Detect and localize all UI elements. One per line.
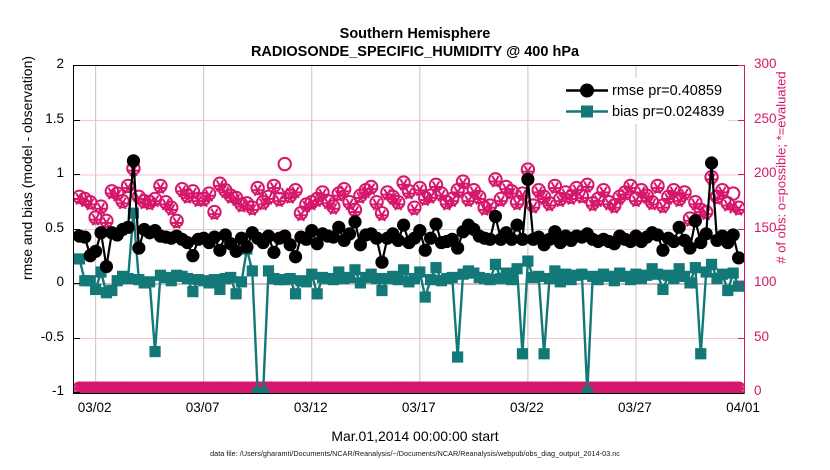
y-axis-left-tickmark (73, 229, 80, 230)
rmse-marker (451, 241, 464, 254)
obs-possible-marker (376, 207, 388, 219)
bias-marker (511, 263, 522, 274)
y-axis-left-tick: 2 (18, 56, 64, 71)
x-axis-tick: 03/02 (55, 400, 135, 415)
legend-item-rmse[interactable]: rmse pr=0.40859 (564, 80, 724, 101)
y-axis-left-tickmark (73, 120, 80, 121)
bias-marker (506, 274, 517, 285)
bias-marker (522, 256, 533, 267)
legend-marker-square-icon (564, 101, 610, 122)
bias-marker (106, 285, 117, 296)
bias-marker (517, 348, 528, 359)
y-axis-left-tickmark (73, 392, 80, 393)
bias-marker (306, 269, 317, 280)
rmse-marker (521, 173, 534, 186)
obs-possible-marker (408, 202, 420, 214)
rmse-marker (429, 217, 442, 230)
bias-marker (225, 272, 236, 283)
obs-possible-marker (727, 187, 739, 199)
bias-marker (90, 284, 101, 295)
bias-marker (668, 273, 679, 284)
bias-marker (144, 276, 155, 287)
bias-marker (182, 273, 193, 284)
legend-item-bias[interactable]: bias pr=0.024839 (564, 101, 724, 122)
rmse-marker (240, 240, 253, 253)
rmse-marker (343, 227, 356, 240)
page-title: Southern Hemisphere (0, 26, 830, 42)
rmse-marker (121, 221, 134, 234)
bias-marker (247, 265, 258, 276)
bias-marker (538, 348, 549, 359)
bias-marker (393, 274, 404, 285)
rmse-marker (78, 231, 91, 244)
rmse-marker (413, 224, 426, 237)
x-axis-tick: 03/27 (595, 400, 675, 415)
rmse-marker (127, 154, 140, 167)
rmse-marker (132, 241, 145, 254)
bias-marker (425, 274, 436, 285)
bias-marker (398, 264, 409, 275)
rmse-marker (284, 238, 297, 251)
bias-marker (452, 351, 463, 362)
bias-marker (214, 284, 225, 295)
bias-marker (576, 269, 587, 280)
rmse-marker (89, 245, 102, 258)
bias-marker (484, 274, 495, 285)
y-axis-right-tick: 50 (754, 329, 810, 344)
y-axis-left-tick: -0.5 (18, 329, 64, 344)
right-axis-spine (744, 65, 745, 394)
x-axis-label: Mar.01,2014 00:00:00 start (0, 428, 830, 444)
y-axis-left-tick: 1.5 (18, 111, 64, 126)
bias-marker (684, 277, 695, 288)
rmse-line (79, 161, 738, 267)
bias-marker (695, 348, 706, 359)
bias-marker (549, 265, 560, 276)
bias-marker (236, 276, 247, 287)
bias-marker (74, 253, 85, 264)
rmse-marker (289, 250, 302, 263)
data-file-path: data file: /Users/gharamti/Documents/NCA… (0, 449, 830, 458)
rmse-marker (673, 221, 686, 234)
obs-possible-marker (95, 200, 107, 212)
bias-marker (490, 259, 501, 270)
y-axis-left-tick: -1 (18, 383, 64, 398)
y-axis-left-tickmark (73, 174, 80, 175)
rmse-marker (656, 244, 669, 257)
bias-marker (376, 285, 387, 296)
legend: rmse pr=0.40859 bias pr=0.024839 (560, 78, 728, 124)
y-axis-right-tick: 200 (754, 165, 810, 180)
bias-marker (722, 285, 733, 296)
y-axis-left-tick: 0 (18, 274, 64, 289)
bias-marker (420, 291, 431, 302)
x-axis-tick: 03/22 (487, 400, 567, 415)
y-axis-left-tick: 0.5 (18, 220, 64, 235)
legend-label-rmse: rmse pr=0.40859 (610, 83, 722, 99)
bias-marker (414, 266, 425, 277)
rmse-marker (267, 246, 280, 259)
bias-marker (258, 387, 269, 393)
y-axis-right-tick: 150 (754, 220, 810, 235)
page-subtitle: RADIOSONDE_SPECIFIC_HUMIDITY @ 400 hPa (0, 44, 830, 60)
rmse-marker (186, 249, 199, 262)
bias-marker (717, 269, 728, 280)
obs-possible-marker (208, 206, 220, 218)
y-axis-right-tick: 0 (754, 383, 810, 398)
bias-marker (728, 268, 739, 279)
bias-marker (447, 272, 458, 283)
obs-possible-marker (279, 158, 291, 170)
bias-marker (706, 259, 717, 270)
x-axis-tick: 03/07 (163, 400, 243, 415)
rmse-marker (100, 260, 113, 273)
bias-marker (582, 387, 593, 393)
bias-marker (312, 288, 323, 299)
bias-marker (122, 273, 133, 284)
bias-marker (652, 269, 663, 280)
bias-marker (371, 273, 382, 284)
bias-marker (187, 286, 198, 297)
y-axis-right-tick: 250 (754, 111, 810, 126)
y-axis-left-tickmark (73, 283, 80, 284)
bias-marker (285, 273, 296, 284)
bias-marker (209, 274, 220, 285)
obs-possible-marker (100, 215, 112, 227)
rmse-marker (510, 219, 523, 232)
legend-marker-circle-icon (564, 80, 610, 101)
obs-possible-marker (154, 180, 166, 192)
rmse-marker (489, 210, 502, 223)
rmse-marker (419, 244, 432, 257)
y-axis-left-tickmark (73, 65, 80, 66)
x-axis-tick: 03/12 (271, 400, 351, 415)
bias-marker (349, 264, 360, 275)
x-axis-tick: 03/17 (379, 400, 459, 415)
bias-marker (149, 346, 160, 357)
obs-possible-marker (268, 180, 280, 192)
rmse-marker (689, 214, 702, 227)
obs-possible-marker (651, 180, 663, 192)
legend-label-bias: bias pr=0.024839 (610, 104, 724, 120)
y-axis-right-tick: 100 (754, 274, 810, 289)
y-axis-left-tickmark (73, 338, 80, 339)
plot-figure: Southern Hemisphere RADIOSONDE_SPECIFIC_… (0, 0, 830, 470)
rmse-marker (397, 219, 410, 232)
bias-marker (533, 271, 544, 282)
bias-marker (690, 262, 701, 273)
rmse-marker (727, 228, 740, 241)
x-axis-tick: 04/01 (703, 400, 783, 415)
y-axis-left-tick: 1 (18, 165, 64, 180)
y-axis-right-tick: 300 (754, 56, 810, 71)
rmse-marker (705, 156, 718, 169)
bias-marker (430, 262, 441, 273)
obs-possible-marker (581, 179, 593, 191)
rmse-marker (732, 251, 744, 264)
bias-marker (230, 288, 241, 299)
rmse-marker (375, 256, 388, 269)
obs-possible-marker (170, 215, 182, 227)
obs-possible-marker (495, 193, 507, 205)
rmse-marker (348, 215, 361, 228)
bias-marker (290, 288, 301, 299)
bias-marker (657, 284, 668, 295)
obs-possible-marker (252, 182, 264, 194)
